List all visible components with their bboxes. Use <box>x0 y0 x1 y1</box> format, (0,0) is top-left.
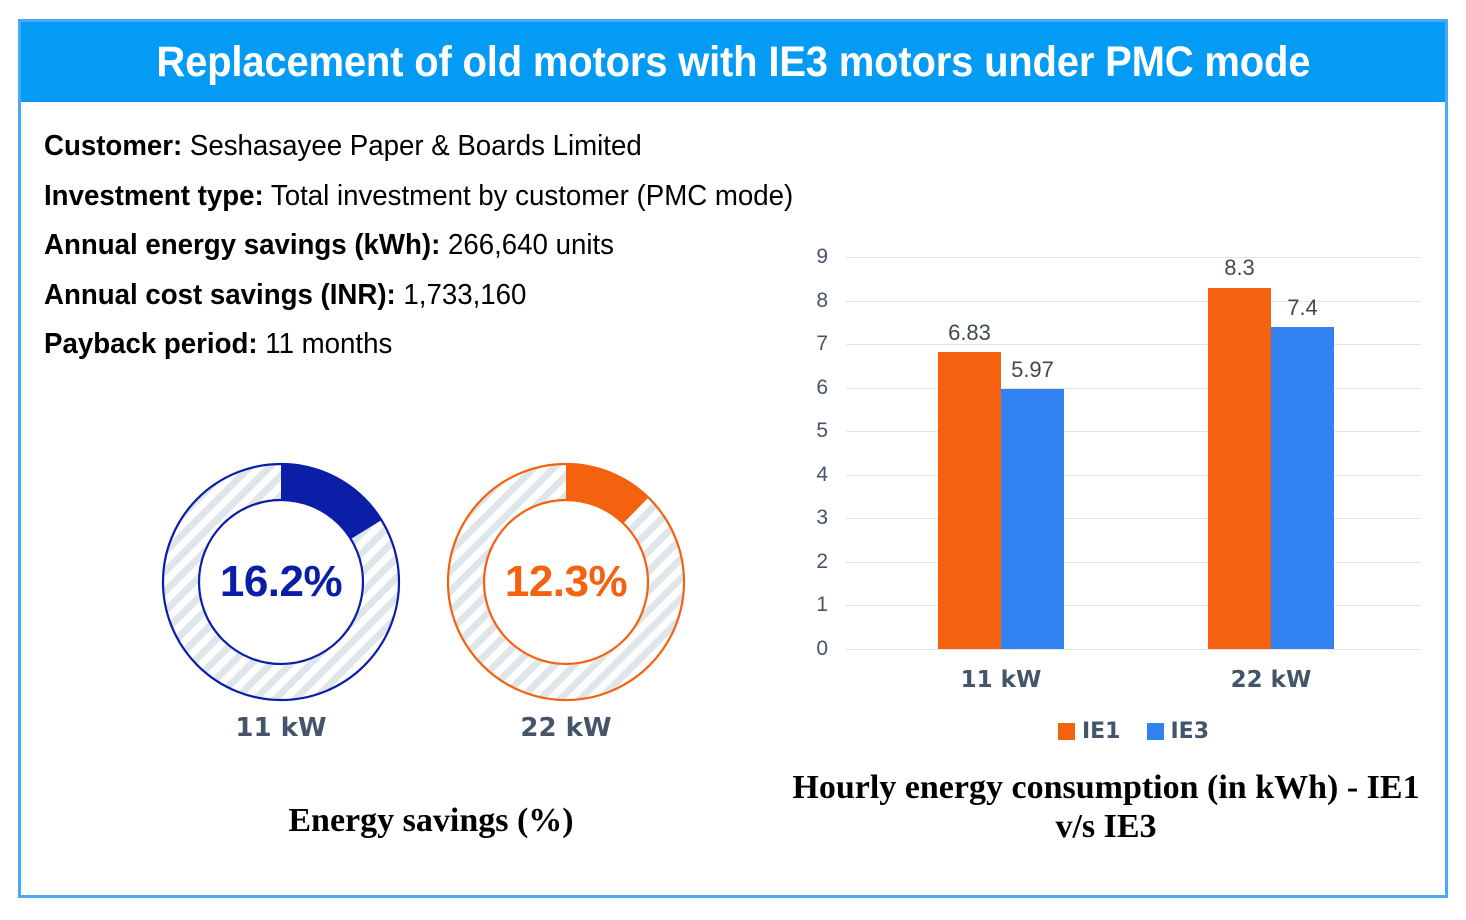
legend-entry-ie3: IE3 <box>1147 719 1210 744</box>
info-value: 11 months <box>258 328 393 360</box>
donut-gauge-11kw: 16.2% 11 kW <box>156 457 406 707</box>
energy-savings-donut-chart: 16.2% 11 kW 12.3% 22 kW Energy savings (… <box>51 457 751 887</box>
bar-value-label: 6.83 <box>925 320 1015 346</box>
chart-gridline <box>846 257 1421 258</box>
info-label: Annual energy savings (kWh): <box>44 229 440 261</box>
info-label: Investment type: <box>44 180 264 212</box>
chart-gridline <box>846 431 1421 432</box>
bar-value-label: 8.3 <box>1195 255 1285 281</box>
y-axis-tick-label: 2 <box>788 550 828 574</box>
bar-value-label: 5.97 <box>988 357 1078 383</box>
info-value: 266,640 units <box>440 229 614 261</box>
donut-category-label: 11 kW <box>156 713 406 743</box>
chart-gridline <box>846 475 1421 476</box>
info-row-investment-type: Investment type: Total investment by cus… <box>44 182 1014 211</box>
slide-header: Replacement of old motors with IE3 motor… <box>21 22 1445 102</box>
chart-gridline <box>846 388 1421 389</box>
chart-plot-area: 01234567896.835.9711 kW8.37.422 kW <box>846 257 1421 649</box>
bar-ie3-11kW <box>1001 389 1064 649</box>
info-row-annual-energy-savings: Annual energy savings (kWh): 266,640 uni… <box>44 231 1014 260</box>
chart-gridline <box>846 649 1421 650</box>
legend-label: IE3 <box>1171 719 1210 744</box>
y-axis-tick-label: 4 <box>788 463 828 487</box>
x-axis-tick-label: 22 kW <box>1196 667 1346 693</box>
y-axis-tick-label: 1 <box>788 593 828 617</box>
donut-chart-caption: Energy savings (%) <box>51 802 811 840</box>
legend-label: IE1 <box>1082 719 1121 744</box>
chart-gridline <box>846 605 1421 606</box>
y-axis-tick-label: 6 <box>788 376 828 400</box>
y-axis-tick-label: 9 <box>788 245 828 269</box>
donut-svg <box>441 457 691 707</box>
bar-value-label: 7.4 <box>1258 295 1348 321</box>
info-label: Annual cost savings (INR): <box>44 279 396 311</box>
x-axis-tick-label: 11 kW <box>926 667 1076 693</box>
bar-ie1-22kW <box>1208 288 1271 650</box>
bar-chart-caption: Hourly energy consumption (in kWh) - IE1… <box>781 769 1431 847</box>
info-label: Payback period: <box>44 328 258 360</box>
slide-card: Replacement of old motors with IE3 motor… <box>18 19 1448 898</box>
page-title: Replacement of old motors with IE3 motor… <box>156 41 1310 84</box>
legend-swatch-icon <box>1147 723 1164 740</box>
info-value: 1,733,160 <box>396 279 527 311</box>
chart-gridline <box>846 518 1421 519</box>
y-axis-tick-label: 3 <box>788 506 828 530</box>
slide-body: Customer: Seshasayee Paper & Boards Limi… <box>21 102 1445 898</box>
info-label: Customer: <box>44 130 182 162</box>
info-row-customer: Customer: Seshasayee Paper & Boards Limi… <box>44 132 1014 161</box>
chart-legend: IE1 IE3 <box>846 719 1421 744</box>
y-axis-tick-label: 8 <box>788 289 828 313</box>
bar-ie1-11kW <box>938 352 1001 649</box>
donut-gauge-22kw: 12.3% 22 kW <box>441 457 691 707</box>
chart-gridline <box>846 562 1421 563</box>
donut-category-label: 22 kW <box>441 713 691 743</box>
legend-entry-ie1: IE1 <box>1058 719 1121 744</box>
bar-ie3-22kW <box>1271 327 1334 649</box>
donut-svg <box>156 457 406 707</box>
hourly-consumption-bar-chart: 01234567896.835.9711 kW8.37.422 kW IE1 I… <box>791 257 1431 887</box>
y-axis-tick-label: 0 <box>788 637 828 661</box>
y-axis-tick-label: 5 <box>788 419 828 443</box>
legend-swatch-icon <box>1058 723 1075 740</box>
info-value: Total investment by customer (PMC mode) <box>264 180 794 212</box>
y-axis-tick-label: 7 <box>788 332 828 356</box>
info-value: Seshasayee Paper & Boards Limited <box>182 130 641 162</box>
